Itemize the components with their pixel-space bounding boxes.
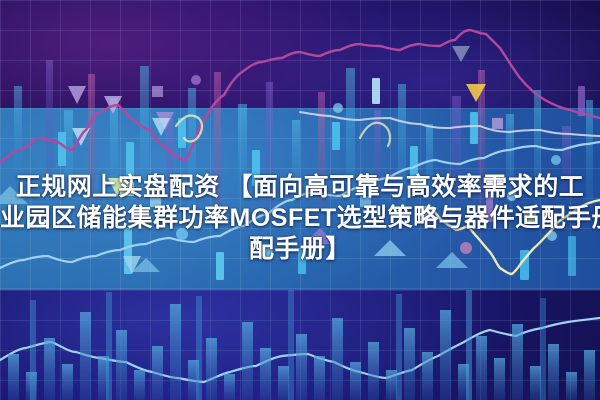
banner-image: 正规网上实盘配资 【面向高可靠与高效率需求的工 业园区储能集群功率MOSFET选… (0, 0, 600, 400)
upper-dark-chart-band (0, 0, 600, 108)
headline-line-2: 业园区储能集群功率MOSFET选型策略与器件适配手册 (0, 203, 600, 234)
lower-dark-bar-band (0, 290, 600, 400)
headline-text: 正规网上实盘配资 【面向高可靠与高效率需求的工 业园区储能集群功率MOSFET选… (0, 172, 600, 265)
headline-line-3: 配手册】 (0, 234, 600, 265)
headline-line-1: 正规网上实盘配资 【面向高可靠与高效率需求的工 (0, 172, 600, 203)
